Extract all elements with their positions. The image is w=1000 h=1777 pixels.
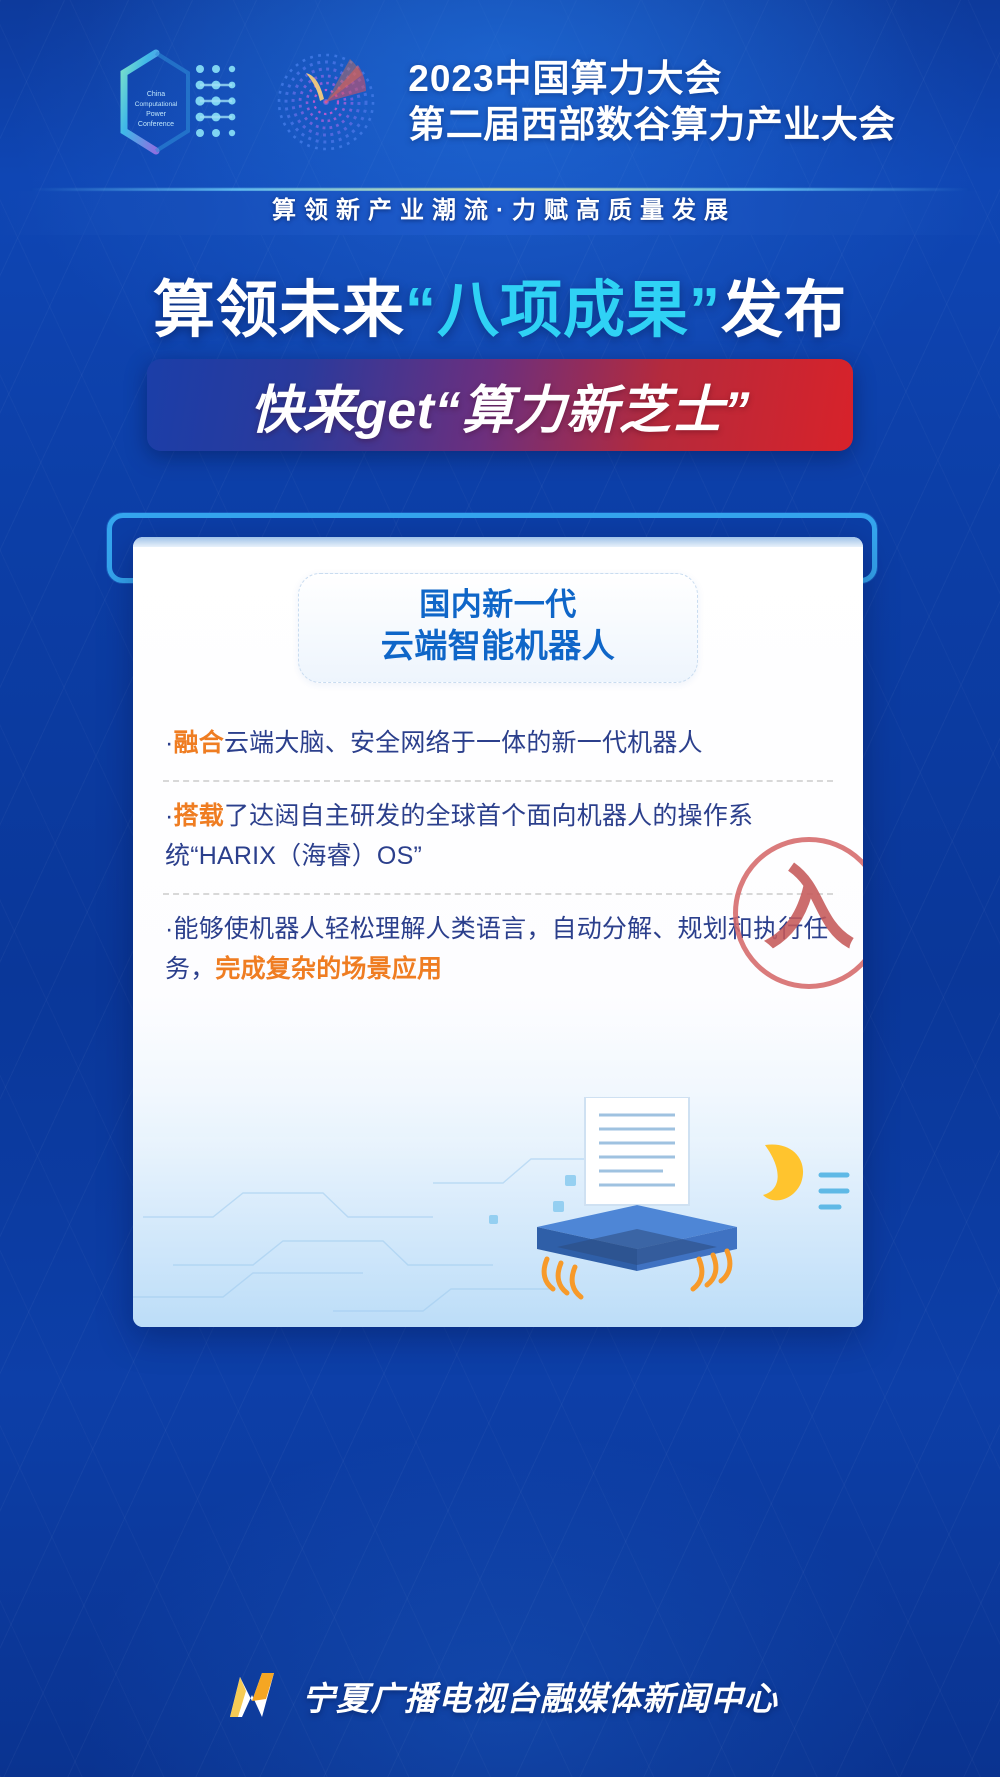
main-title-line1: 算领未来“八项成果”发布 bbox=[0, 276, 1000, 345]
svg-text:Computational: Computational bbox=[135, 101, 178, 108]
achievement-card: 国内新一代 云端智能机器人 ·融合云端大脑、安全网络于一体的新一代机器人 ·搭载… bbox=[107, 513, 893, 1333]
radial-fan-logo-icon bbox=[262, 43, 390, 161]
card-body: 国内新一代 云端智能机器人 ·融合云端大脑、安全网络于一体的新一代机器人 ·搭载… bbox=[133, 537, 863, 1327]
bullet-marker: · bbox=[165, 802, 174, 830]
slogan-text: 算领新产业潮流·力赋高质量发展 bbox=[0, 186, 1000, 236]
conference-hexagon-logo-icon: China Computational Power Conference bbox=[104, 43, 244, 161]
svg-text:Power: Power bbox=[146, 111, 167, 118]
svg-text:Conference: Conference bbox=[138, 121, 174, 128]
header-title-block: 2023中国算力大会 第二届西部数谷算力产业大会 bbox=[408, 57, 896, 146]
list-item: ·搭载了达闼自主研发的全球首个面向机器人的操作系统“HARIX（海睿）OS” bbox=[163, 780, 833, 893]
bullet-highlight: 融合 bbox=[174, 729, 224, 757]
bullet-tail-highlight: 完成复杂的场景应用 bbox=[215, 955, 442, 983]
card-title-line2: 云端智能机器人 bbox=[309, 625, 687, 666]
subtitle-banner-text: 快来get“算力新芝士” bbox=[250, 368, 750, 443]
bullet-highlight: 搭载 bbox=[174, 802, 224, 830]
bullet-text: 云端大脑、安全网络于一体的新一代机器人 bbox=[224, 729, 703, 757]
bullet-marker: · bbox=[165, 729, 174, 757]
main-title-highlight: 八项成果 bbox=[437, 276, 689, 345]
svg-text:China: China bbox=[147, 91, 165, 98]
card-bullet-list: ·融合云端大脑、安全网络于一体的新一代机器人 ·搭载了达闼自主研发的全球首个面向… bbox=[163, 709, 833, 1006]
broadcaster-logo-icon bbox=[222, 1667, 288, 1725]
main-title-part2: 发布 bbox=[721, 276, 847, 345]
subtitle-banner: 快来get“算力新芝士” bbox=[147, 359, 853, 451]
main-title-part1: 算领未来 bbox=[153, 276, 405, 345]
conference-title-line1: 2023中国算力大会 bbox=[408, 57, 896, 101]
broadcaster-name: 宁夏广播电视台融媒体新闻中心 bbox=[302, 1672, 778, 1720]
main-title-block: 算领未来“八项成果”发布 快来get“算力新芝士” bbox=[0, 276, 1000, 451]
page-header: China Computational Power Conference bbox=[0, 0, 1000, 190]
card-title-pill: 国内新一代 云端智能机器人 bbox=[298, 573, 698, 683]
bullet-marker: · bbox=[165, 915, 174, 943]
main-title-quote-close: ” bbox=[689, 276, 721, 345]
conference-title-line2: 第二届西部数谷算力产业大会 bbox=[408, 103, 896, 147]
bullet-text: 了达闼自主研发的全球首个面向机器人的操作系统“HARIX（海睿）OS” bbox=[165, 802, 753, 871]
slogan-bar: 算领新产业潮流·力赋高质量发展 bbox=[0, 186, 1000, 240]
card-title-line1: 国内新一代 bbox=[309, 586, 687, 625]
page-footer: 宁夏广播电视台融媒体新闻中心 bbox=[0, 1667, 1000, 1725]
main-title-quote-open: “ bbox=[405, 276, 437, 345]
list-item: ·融合云端大脑、安全网络于一体的新一代机器人 bbox=[163, 709, 833, 780]
list-item: ·能够使机器人轻松理解人类语言，自动分解、规划和执行任务，完成复杂的场景应用 bbox=[163, 893, 833, 1006]
